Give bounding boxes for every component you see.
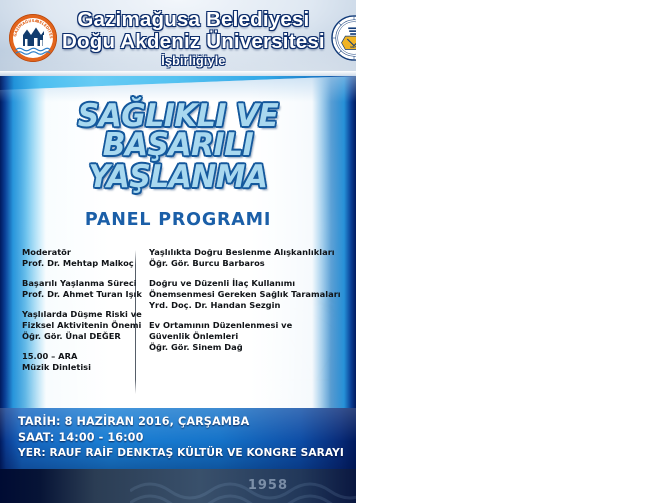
program-line: Yaşlılarda Düşme Riski ve [22, 309, 135, 320]
program-line: Moderatör [22, 247, 135, 258]
program-entry: Moderatör Prof. Dr. Mehtap Malkoç [22, 247, 135, 269]
program-line: Öğr. Gör. Sinem Dağ [149, 342, 356, 353]
screenshot-canvas: GAZİMAĞUSA BELEDİYESİ [0, 0, 670, 503]
program-entry: Ev Ortamının Düzenlenmesi ve Güvenlik Ön… [149, 320, 356, 353]
event-venue: YER: RAUF RAİF DENKTAŞ KÜLTÜR VE KONGRE … [18, 446, 352, 461]
event-info-band: TARİH: 8 HAZİRAN 2016, ÇARŞAMBA SAAT: 14… [0, 408, 356, 469]
program-line: Ev Ortamının Düzenlenmesi ve [149, 320, 356, 331]
program-entry: Doğru ve Düzenli İlaç Kullanımı Önemsenm… [149, 278, 356, 311]
poster-header: GAZİMAĞUSA BELEDİYESİ [0, 0, 356, 76]
event-poster: GAZİMAĞUSA BELEDİYESİ [0, 0, 356, 503]
program-line: Prof. Dr. Ahmet Turan Işık [22, 289, 135, 300]
program-line: Yrd. Doç. Dr. Handan Sezgin [149, 300, 356, 311]
header-line-2: Doğu Akdeniz Üniversitesi [62, 32, 325, 53]
gazimagusa-municipality-seal-icon: GAZİMAĞUSA BELEDİYESİ [4, 13, 62, 63]
program-line: Başarılı Yaşlanma Süreci [22, 278, 135, 289]
program-line: Yaşlılıkta Doğru Beslenme Alışkanlıkları [149, 247, 356, 258]
program-entry: Yaşlılıkta Doğru Beslenme Alışkanlıkları… [149, 247, 356, 269]
program-line: Önemsenmesi Gereken Sağlık Taramaları [149, 289, 356, 300]
event-date: TARİH: 8 HAZİRAN 2016, ÇARŞAMBA [18, 414, 352, 430]
header-bottom-edge [0, 71, 356, 76]
program-entry: 15.00 – ARA Müzik Dinletisi [22, 351, 135, 373]
wave-decoration-icon [130, 469, 356, 503]
program-entry: Yaşlılarda Düşme Riski ve Fizksel Aktivi… [22, 309, 135, 342]
program-right-column: Yaşlılıkta Doğru Beslenme Alışkanlıkları… [136, 247, 356, 402]
program-line: Güvenlik Önlemleri [149, 331, 356, 342]
program-line: Fizksel Aktivitenin Önemi [22, 320, 135, 331]
program-line: Müzik Dinletisi [22, 362, 135, 373]
program-section: Moderatör Prof. Dr. Mehtap Malkoç Başarı… [0, 247, 356, 402]
blank-right-area [356, 0, 670, 503]
footer-year: 1958 [248, 478, 288, 493]
header-line-1: Gazimağusa Belediyesi [62, 10, 325, 31]
poster-footer-strip: 1958 [0, 469, 356, 503]
event-time: SAAT: 14:00 - 16:00 [18, 430, 352, 446]
program-line: 15.00 – ARA [22, 351, 135, 362]
program-entry: Başarılı Yaşlanma Süreci Prof. Dr. Ahmet… [22, 278, 135, 300]
program-line: Prof. Dr. Mehtap Malkoç [22, 258, 135, 269]
program-line: Öğr. Gör. Burcu Barbaros [149, 258, 356, 269]
event-info-lines: TARİH: 8 HAZİRAN 2016, ÇARŞAMBA SAAT: 14… [18, 414, 352, 461]
program-line: Doğru ve Düzenli İlaç Kullanımı [149, 278, 356, 289]
header-titles: Gazimağusa Belediyesi Doğu Akdeniz Ünive… [62, 8, 325, 68]
poster-subtitle: PANEL PROGRAMI [0, 210, 356, 230]
emu-university-seal-icon: 1979 [325, 14, 356, 62]
header-line-3: İşbirliğiyle [62, 55, 325, 68]
program-line: Öğr. Gör. Ünal DEĞER [22, 331, 135, 342]
program-left-column: Moderatör Prof. Dr. Mehtap Malkoç Başarı… [0, 247, 135, 402]
